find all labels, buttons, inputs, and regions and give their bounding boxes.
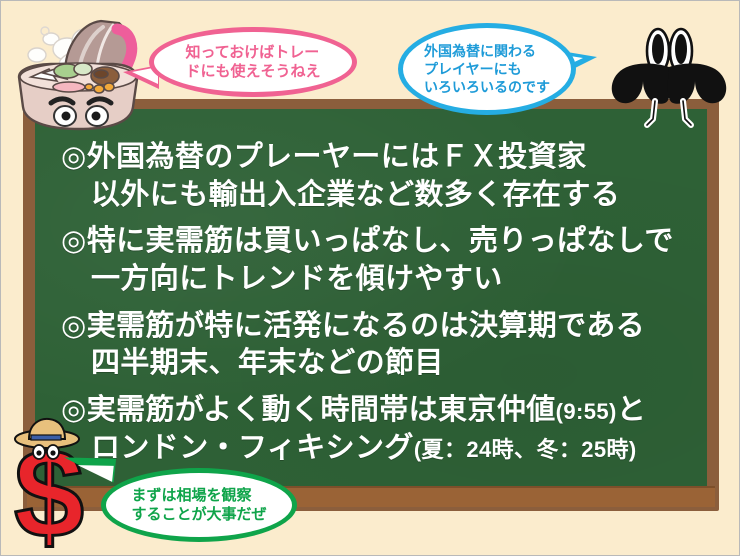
dollar-sign-cowboy-icon: $: [3, 413, 95, 555]
blackboard-text-content: ◎外国為替のプレーヤーにはＦＸ投資家 以外にも輸出入企業など数多く存在する ◎特…: [61, 139, 693, 477]
bullet-2-line-2: 一方向にトレンドを傾けやすい: [61, 261, 693, 299]
blackboard-frame: ◎外国為替のプレーヤーにはＦＸ投資家 以外にも輸出入企業など数多く存在する ◎特…: [23, 99, 719, 511]
bullet-4-line-1-tail: と: [617, 394, 646, 426]
bullet-item-1: ◎外国為替のプレーヤーにはＦＸ投資家 以外にも輸出入企業など数多く存在する: [61, 139, 693, 214]
mustache-icon: [603, 19, 735, 131]
bullet-4-line-2: ロンドン・フィキシング(夏：24時、冬：25時): [61, 430, 693, 468]
bullet-1-line-2: 以外にも輸出入企業など数多く存在する: [61, 177, 693, 215]
bullet-3-line-2: 四半期末、年末などの節目: [61, 345, 693, 383]
dollar-character: $: [3, 413, 95, 555]
mustache-character: [603, 19, 735, 131]
slide-canvas: ◎外国為替のプレーヤーにはＦＸ投資家 以外にも輸出入企業など数多く存在する ◎特…: [0, 0, 740, 556]
bullet-3-line-1: ◎実需筋が特に活発になるのは決算期である: [61, 308, 693, 346]
bullet-item-4: ◎実需筋がよく動く時間帯は東京仲値(9:55)と ロンドン・フィキシング(夏：2…: [61, 392, 693, 467]
pink-bubble-text: 知っておけばトレー ドにも使えそうねえ: [185, 43, 320, 82]
bullet-item-3: ◎実需筋が特に活発になるのは決算期である 四半期末、年末などの節目: [61, 308, 693, 383]
blue-bubble-text: 外国為替に関わる プレイヤーにも いろいろいるのです: [424, 42, 550, 97]
bullet-4-line-2-main: ロンドン・フィキシング: [91, 432, 414, 464]
bullet-item-2: ◎特に実需筋は買いっぱなし、売りっぱなしで 一方向にトレンドを傾けやすい: [61, 223, 693, 298]
bullet-4-line-2-paren: (夏：24時、冬：25時): [414, 437, 637, 462]
bullet-4-line-1-main: ◎実需筋がよく動く時間帯は東京仲値: [61, 394, 556, 426]
blackboard-surface: ◎外国為替のプレーヤーにはＦＸ投資家 以外にも輸出入企業など数多く存在する ◎特…: [35, 109, 707, 487]
green-speech-bubble: まずは相場を観察 することが大事だぜ: [101, 468, 297, 542]
green-bubble-text: まずは相場を観察 することが大事だぜ: [131, 486, 266, 525]
bullet-4-line-1-paren: (9:55): [556, 399, 617, 424]
bullet-2-line-1: ◎特に実需筋は買いっぱなし、売りっぱなしで: [61, 223, 693, 261]
pink-speech-bubble: 知っておけばトレー ドにも使えそうねえ: [149, 27, 357, 97]
bullet-4-line-1: ◎実需筋がよく動く時間帯は東京仲値(9:55)と: [61, 392, 693, 430]
bullet-1-line-1: ◎外国為替のプレーヤーにはＦＸ投資家: [61, 139, 693, 177]
blue-speech-bubble: 外国為替に関わる プレイヤーにも いろいろいるのです: [398, 23, 576, 115]
